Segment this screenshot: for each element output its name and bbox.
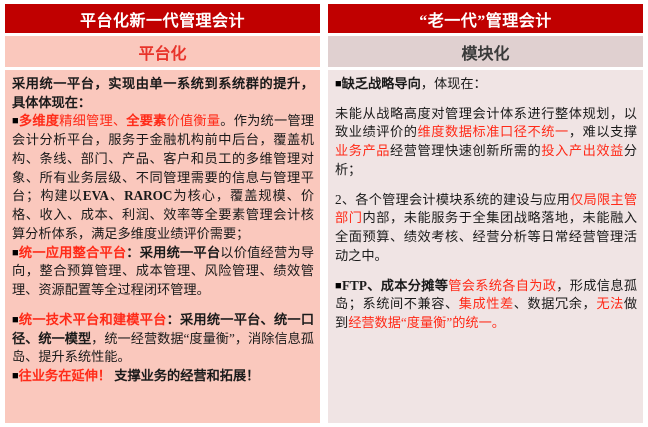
text-run: ■ [335, 78, 342, 90]
paragraph: 2、各个管理会计模块系统的建设与应用仅局限主管部门内部，未能服务于全集团战略落地… [335, 191, 637, 266]
text-run: 精细管理、 [59, 113, 126, 128]
text-run: 采用统一平台，实现由单一系统到系统群的提升，具体体现在： [12, 76, 314, 110]
paragraph [335, 94, 637, 105]
text-run: 业务产品 [335, 143, 390, 158]
text-run: ，体现在： [421, 76, 487, 91]
text-run: FTP [342, 278, 367, 293]
column-new-generation: 平台化新一代管理会计 平台化 采用统一平台，实现由单一系统到系统群的提升，具体体… [0, 0, 324, 427]
text-run: 统一平台 [167, 245, 221, 260]
text-run: 管会系统各自为政 [448, 278, 556, 293]
paragraph [335, 266, 637, 277]
text-run: ，难以支撑 [569, 124, 637, 139]
text-run: RAROC [124, 188, 172, 203]
comparison-table: 平台化新一代管理会计 平台化 采用统一平台，实现由单一系统到系统群的提升，具体体… [0, 0, 648, 427]
paragraph: 未能从战略高度对管理会计体系进行整体规划，以致业绩评价的维度数据标准口径不统一，… [335, 105, 637, 180]
text-run: 2、各个管理会计模块系统的建设与应用 [335, 192, 570, 207]
text-run: ■ [12, 370, 19, 382]
text-run: 全要素 [126, 113, 166, 128]
column-body-new-generation: 采用统一平台，实现由单一系统到系统群的提升，具体体现在：■多维度精细管理、全要素… [5, 70, 320, 423]
text-run: 统一技术平台和建模平台 [19, 312, 167, 327]
text-run: 维度数据标准口径不统一 [418, 124, 569, 139]
text-run: ■ [12, 115, 19, 127]
text-run: 统一应用整合平台 [19, 245, 126, 260]
column-header-new-generation: 平台化新一代管理会计 [5, 4, 320, 33]
text-run: 、 [109, 188, 124, 203]
text-run: 支撑业务的经营和拓展！ [111, 368, 259, 383]
paragraph: ■统一技术平台和建模平台：采用统一平台、统一口径、统一模型，统一经营数据“度量衡… [12, 311, 314, 367]
text-run: 往业务在延伸！ [19, 368, 111, 383]
text-run: 缺乏战略导向 [342, 76, 421, 91]
text-run: 、数据冗余， [514, 296, 597, 311]
paragraph [12, 300, 314, 311]
column-body-old-generation: ■缺乏战略导向，体现在：未能从战略高度对管理会计体系进行整体规划，以致业绩评价的… [328, 70, 643, 423]
paragraph: ■往业务在延伸！ 支撑业务的经营和拓展！ [12, 367, 314, 386]
text-run: ■ [12, 314, 19, 326]
text-run: 多维度 [19, 113, 59, 128]
text-run: 内部，未能服务于全集团战略落地，未能融入全面预算、绩效考核、经营分析等日常经营管… [335, 210, 637, 262]
paragraph: ■FTP、成本分摊等管会系统各自为政，形成信息孤岛；系统间不兼容、集成性差、数据… [335, 277, 637, 333]
text-run: ■ [335, 280, 342, 292]
text-run: 投入产出效益 [541, 143, 624, 158]
text-run: ：采用 [126, 245, 166, 260]
text-run: 集成性差 [459, 296, 514, 311]
column-header-old-generation: “老一代”管理会计 [328, 4, 643, 33]
text-run: EVA [83, 188, 109, 203]
text-run: 价值衡量 [167, 113, 221, 128]
text-run: ：采用 [167, 312, 207, 327]
text-run: ■ [12, 247, 19, 259]
column-old-generation: “老一代”管理会计 模块化 ■缺乏战略导向，体现在：未能从战略高度对管理会计体系… [324, 0, 648, 427]
text-run: 经营数据“度量衡”的统一。 [348, 315, 505, 330]
column-subheader-new-generation: 平台化 [5, 36, 320, 67]
paragraph: 采用统一平台，实现由单一系统到系统群的提升，具体体现在： [12, 75, 314, 112]
text-run: 、成本分摊等 [367, 278, 448, 293]
text-run: 无法 [596, 296, 624, 311]
paragraph: ■统一应用整合平台：采用统一平台以价值经营为导向，整合预算管理、成本管理、风险管… [12, 244, 314, 300]
text-run: 经营管理快速创新所需的 [390, 143, 541, 158]
paragraph: ■多维度精细管理、全要素价值衡量。作为统一管理会计分析平台，服务于金融机构前中后… [12, 112, 314, 243]
paragraph: ■缺乏战略导向，体现在： [335, 75, 637, 94]
column-subheader-old-generation: 模块化 [328, 36, 643, 67]
paragraph [335, 180, 637, 191]
